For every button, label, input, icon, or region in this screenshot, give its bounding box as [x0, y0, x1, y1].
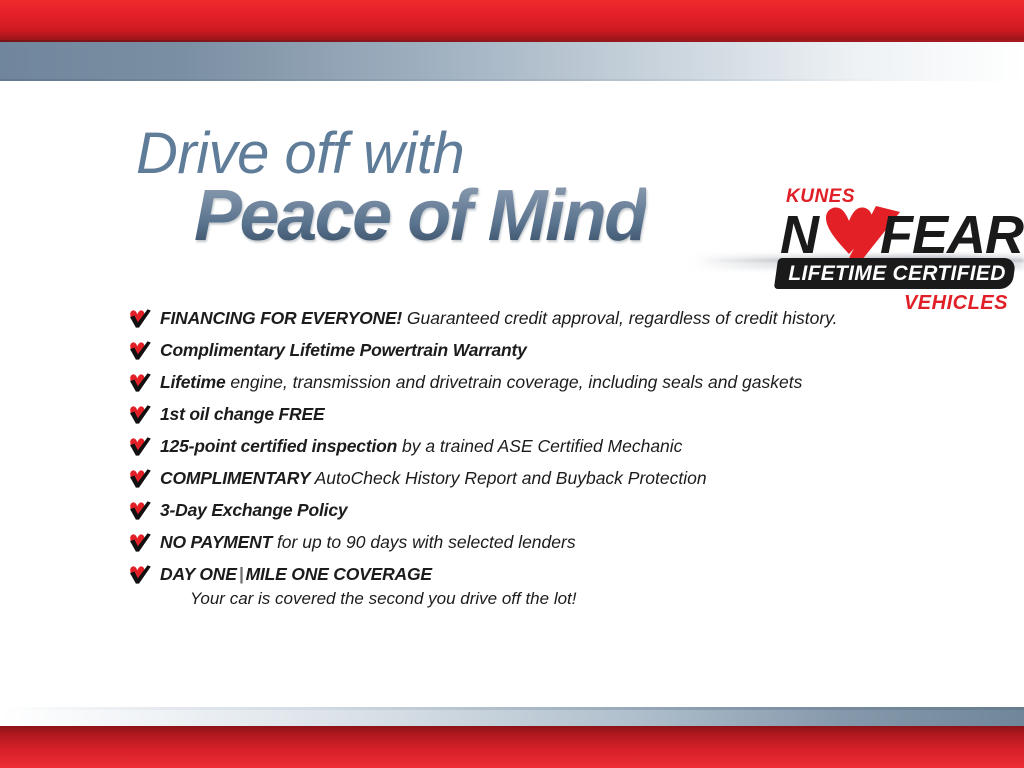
logo-banner-text: LIFETIME CERTIFIED: [784, 263, 1010, 284]
heart-check-bullet-icon: [128, 340, 152, 361]
benefit-item: DAY ONE|MILE ONE COVERAGEYour car is cov…: [128, 563, 958, 610]
benefit-detail: AutoCheck History Report and Buyback Pro…: [310, 468, 706, 488]
benefit-item: Lifetime engine, transmission and drivet…: [128, 371, 958, 394]
bottom-gray-band: [0, 707, 1024, 726]
benefit-item: FINANCING FOR EVERYONE! Guaranteed credi…: [128, 307, 958, 330]
heart-check-bullet-icon: [128, 308, 152, 329]
benefit-headline: COMPLIMENTARY: [160, 468, 310, 488]
bottom-red-band: [0, 726, 1024, 768]
benefit-headline: FINANCING FOR EVERYONE!: [160, 308, 402, 328]
benefit-headline: 1st oil change FREE: [160, 404, 324, 424]
heart-check-bullet-icon: [128, 404, 152, 425]
benefit-item: 1st oil change FREE: [128, 403, 958, 426]
benefit-headline: 3-Day Exchange Policy: [160, 500, 347, 520]
benefit-headline: Lifetime: [160, 372, 226, 392]
heart-check-bullet-icon: [128, 468, 152, 489]
benefit-item: 125-point certified inspection by a trai…: [128, 435, 958, 458]
benefit-headline: Complimentary Lifetime Powertrain Warran…: [160, 340, 527, 360]
benefit-headline: NO PAYMENT: [160, 532, 272, 552]
heart-check-bullet-icon: [128, 532, 152, 553]
headline-line-2: Peace of Mind: [194, 179, 646, 253]
headline-line-1: Drive off with: [136, 125, 588, 183]
headline: Drive off with Peace of Mind: [136, 125, 588, 257]
benefit-headline: 125-point certified inspection: [160, 436, 397, 456]
heart-check-bullet-icon: [128, 436, 152, 457]
benefit-separator: |: [237, 564, 246, 584]
top-gray-band: [0, 42, 1024, 81]
benefit-item: COMPLIMENTARY AutoCheck History Report a…: [128, 467, 958, 490]
benefit-subtext: Your car is covered the second you drive…: [160, 587, 958, 610]
benefit-item: NO PAYMENT for up to 90 days with select…: [128, 531, 958, 554]
logo-word-fear: FEAR: [880, 206, 1023, 264]
benefits-list: FINANCING FOR EVERYONE! Guaranteed credi…: [128, 307, 958, 619]
heart-check-bullet-icon: [128, 564, 152, 585]
promotional-banner: Drive off with Peace of Mind KUNES N FEA…: [0, 0, 1024, 768]
benefit-detail: Guaranteed credit approval, regardless o…: [402, 308, 837, 328]
benefit-detail: by a trained ASE Certified Mechanic: [397, 436, 682, 456]
benefit-headline: DAY ONE: [160, 564, 237, 584]
benefit-headline-secondary: MILE ONE COVERAGE: [246, 564, 432, 584]
benefit-item: Complimentary Lifetime Powertrain Warran…: [128, 339, 958, 362]
header-section: Drive off with Peace of Mind KUNES N FEA…: [0, 81, 1024, 263]
heart-check-bullet-icon: [128, 372, 152, 393]
benefit-detail: engine, transmission and drivetrain cove…: [226, 372, 803, 392]
logo-letter-n: N: [780, 206, 818, 264]
heart-check-bullet-icon: [128, 500, 152, 521]
benefit-item: 3-Day Exchange Policy: [128, 499, 958, 522]
benefit-detail: for up to 90 days with selected lenders: [272, 532, 576, 552]
top-red-band: [0, 0, 1024, 42]
